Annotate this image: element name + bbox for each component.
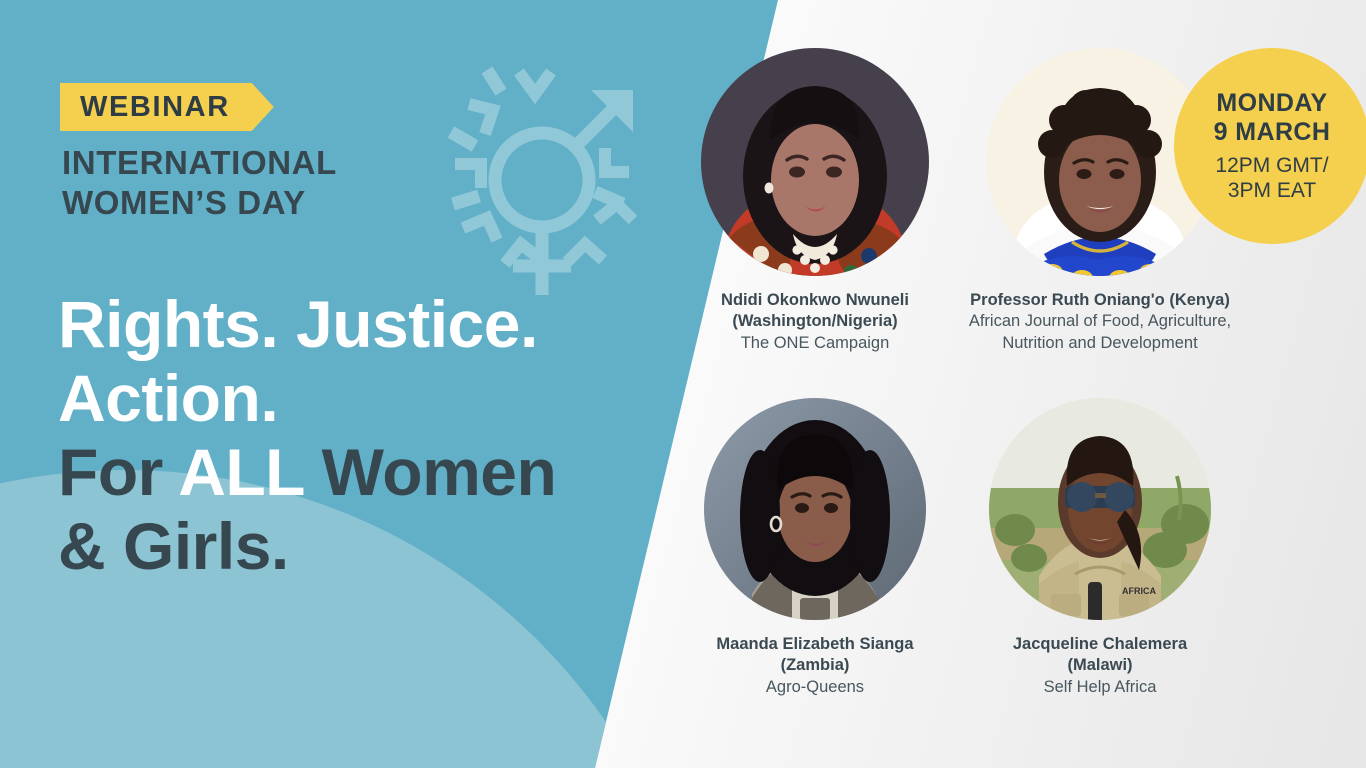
- speaker-org-3: Agro-Queens: [665, 677, 965, 698]
- headline-line-3-for: For: [58, 435, 178, 509]
- webinar-poster: WEBINAR INTERNATIONAL WOMEN’S DAY Rights…: [0, 0, 1366, 768]
- headline-line-4: & Girls.: [58, 509, 289, 583]
- date-badge-time-2: 3PM EAT: [1228, 178, 1316, 203]
- speaker-card-4: AFRICA Jacqueline Chalemera (Malawi) Sel…: [950, 398, 1250, 698]
- speaker-card-1: Ndidi Okonkwo Nwuneli (Washington/Nigeri…: [665, 48, 965, 354]
- speaker-org-1: The ONE Campaign: [665, 333, 965, 354]
- speaker-org-2: African Journal of Food, Agriculture, Nu…: [950, 311, 1250, 354]
- date-badge: MONDAY 9 MARCH 12PM GMT/ 3PM EAT: [1174, 48, 1366, 244]
- portrait-jacqueline-chalemera: AFRICA: [989, 398, 1211, 620]
- speaker-caption-3: Maanda Elizabeth Sianga (Zambia) Agro-Qu…: [665, 634, 965, 698]
- speaker-org-4: Self Help Africa: [950, 677, 1250, 698]
- webinar-tag: WEBINAR: [60, 83, 274, 131]
- date-badge-date: 9 MARCH: [1214, 118, 1331, 147]
- speaker-caption-1: Ndidi Okonkwo Nwuneli (Washington/Nigeri…: [665, 290, 965, 354]
- speaker-name-4a: Jacqueline Chalemera: [950, 634, 1250, 655]
- svg-text:AFRICA: AFRICA: [1122, 586, 1156, 596]
- portrait-ndidi-okonkwo-nwuneli: [701, 48, 929, 276]
- speaker-card-3: Maanda Elizabeth Sianga (Zambia) Agro-Qu…: [665, 398, 965, 698]
- portrait-maanda-elizabeth-sianga: [704, 398, 926, 620]
- speaker-caption-4: Jacqueline Chalemera (Malawi) Self Help …: [950, 634, 1250, 698]
- headline: Rights. Justice. Action. For ALL Women &…: [58, 288, 698, 584]
- headline-line-2: Action.: [58, 361, 278, 435]
- speaker-caption-2: Professor Ruth Oniang'o (Kenya) African …: [950, 290, 1250, 354]
- speaker-name-1a: Ndidi Okonkwo Nwuneli: [665, 290, 965, 311]
- event-title: INTERNATIONAL WOMEN’S DAY: [62, 143, 337, 224]
- speaker-name-2a: Professor Ruth Oniang'o (Kenya): [950, 290, 1250, 311]
- headline-line-1: Rights. Justice.: [58, 287, 538, 361]
- headline-line-3-women: Women: [304, 435, 556, 509]
- speaker-name-4b: (Malawi): [950, 655, 1250, 676]
- event-title-line-2: WOMEN’S DAY: [62, 183, 337, 223]
- webinar-tag-label: WEBINAR: [80, 91, 230, 124]
- event-title-line-1: INTERNATIONAL: [62, 143, 337, 183]
- speaker-name-3b: (Zambia): [665, 655, 965, 676]
- date-badge-day: MONDAY: [1216, 89, 1327, 118]
- speaker-name-3a: Maanda Elizabeth Sianga: [665, 634, 965, 655]
- date-badge-time-1: 12PM GMT/: [1215, 153, 1328, 178]
- speaker-name-1b: (Washington/Nigeria): [665, 311, 965, 332]
- headline-line-3-all: ALL: [178, 435, 304, 509]
